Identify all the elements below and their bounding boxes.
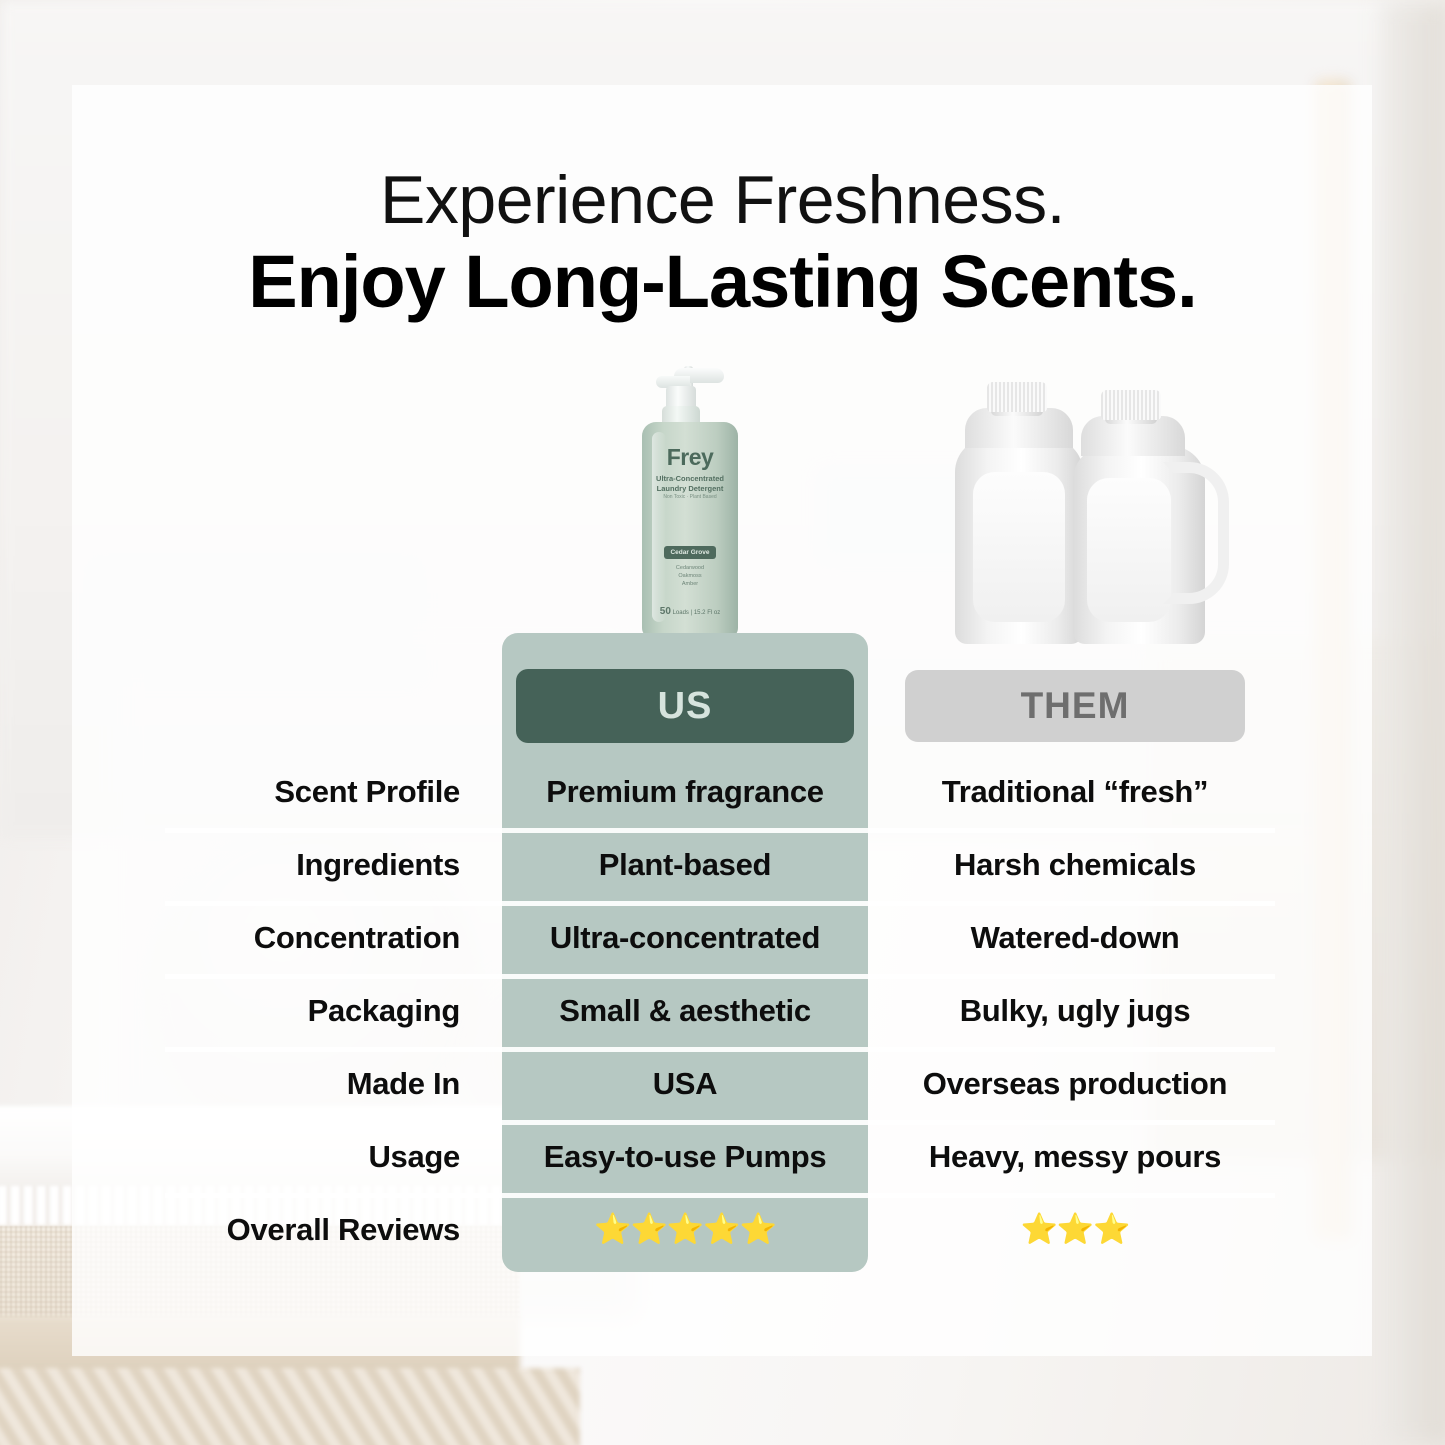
comparison-rows: Scent Profile Premium fragrance Traditio… — [0, 755, 1445, 1266]
table-row: Packaging Small & aesthetic Bulky, ugly … — [0, 974, 1445, 1047]
row-us-value: Small & aesthetic — [502, 993, 868, 1029]
row-them-value: Traditional “fresh” — [890, 774, 1260, 810]
table-row: Ingredients Plant-based Harsh chemicals — [0, 828, 1445, 901]
row-divider — [165, 1193, 1275, 1198]
row-label: Ingredients — [165, 847, 460, 883]
row-us-value: Ultra-concentrated — [502, 920, 868, 956]
row-us-value: Premium fragrance — [502, 774, 868, 810]
row-divider — [165, 1120, 1275, 1125]
row-them-value: Watered-down — [890, 920, 1260, 956]
row-them-value: Bulky, ugly jugs — [890, 993, 1260, 1029]
row-divider — [165, 901, 1275, 906]
row-label: Concentration — [165, 920, 460, 956]
row-divider — [165, 828, 1275, 833]
us-star-rating: ⭐⭐⭐⭐⭐ — [502, 1215, 868, 1245]
row-them-value: Heavy, messy pours — [890, 1139, 1260, 1175]
row-them-value: Overseas production — [890, 1066, 1260, 1102]
them-column-header-label: THEM — [1021, 685, 1130, 727]
row-label: Usage — [165, 1139, 460, 1175]
us-column-header: US — [516, 669, 854, 743]
comparison-table: US THEM Scent Profile Premium fragrance … — [0, 0, 1445, 1445]
row-them-value: Harsh chemicals — [890, 847, 1260, 883]
row-label: Made In — [165, 1066, 460, 1102]
row-label: Overall Reviews — [165, 1212, 460, 1248]
table-row: Scent Profile Premium fragrance Traditio… — [0, 755, 1445, 828]
table-row: Concentration Ultra-concentrated Watered… — [0, 901, 1445, 974]
table-row: Usage Easy-to-use Pumps Heavy, messy pou… — [0, 1120, 1445, 1193]
row-divider — [165, 1047, 1275, 1052]
row-divider — [165, 974, 1275, 979]
us-column-header-label: US — [658, 685, 713, 728]
table-row: Overall Reviews ⭐⭐⭐⭐⭐ ⭐⭐⭐ — [0, 1193, 1445, 1266]
row-label: Packaging — [165, 993, 460, 1029]
row-us-value: Plant-based — [502, 847, 868, 883]
row-us-value: USA — [502, 1066, 868, 1102]
row-label: Scent Profile — [165, 774, 460, 810]
them-star-rating: ⭐⭐⭐ — [890, 1215, 1260, 1245]
them-column-header: THEM — [905, 670, 1245, 742]
row-us-value: Easy-to-use Pumps — [502, 1139, 868, 1175]
table-row: Made In USA Overseas production — [0, 1047, 1445, 1120]
